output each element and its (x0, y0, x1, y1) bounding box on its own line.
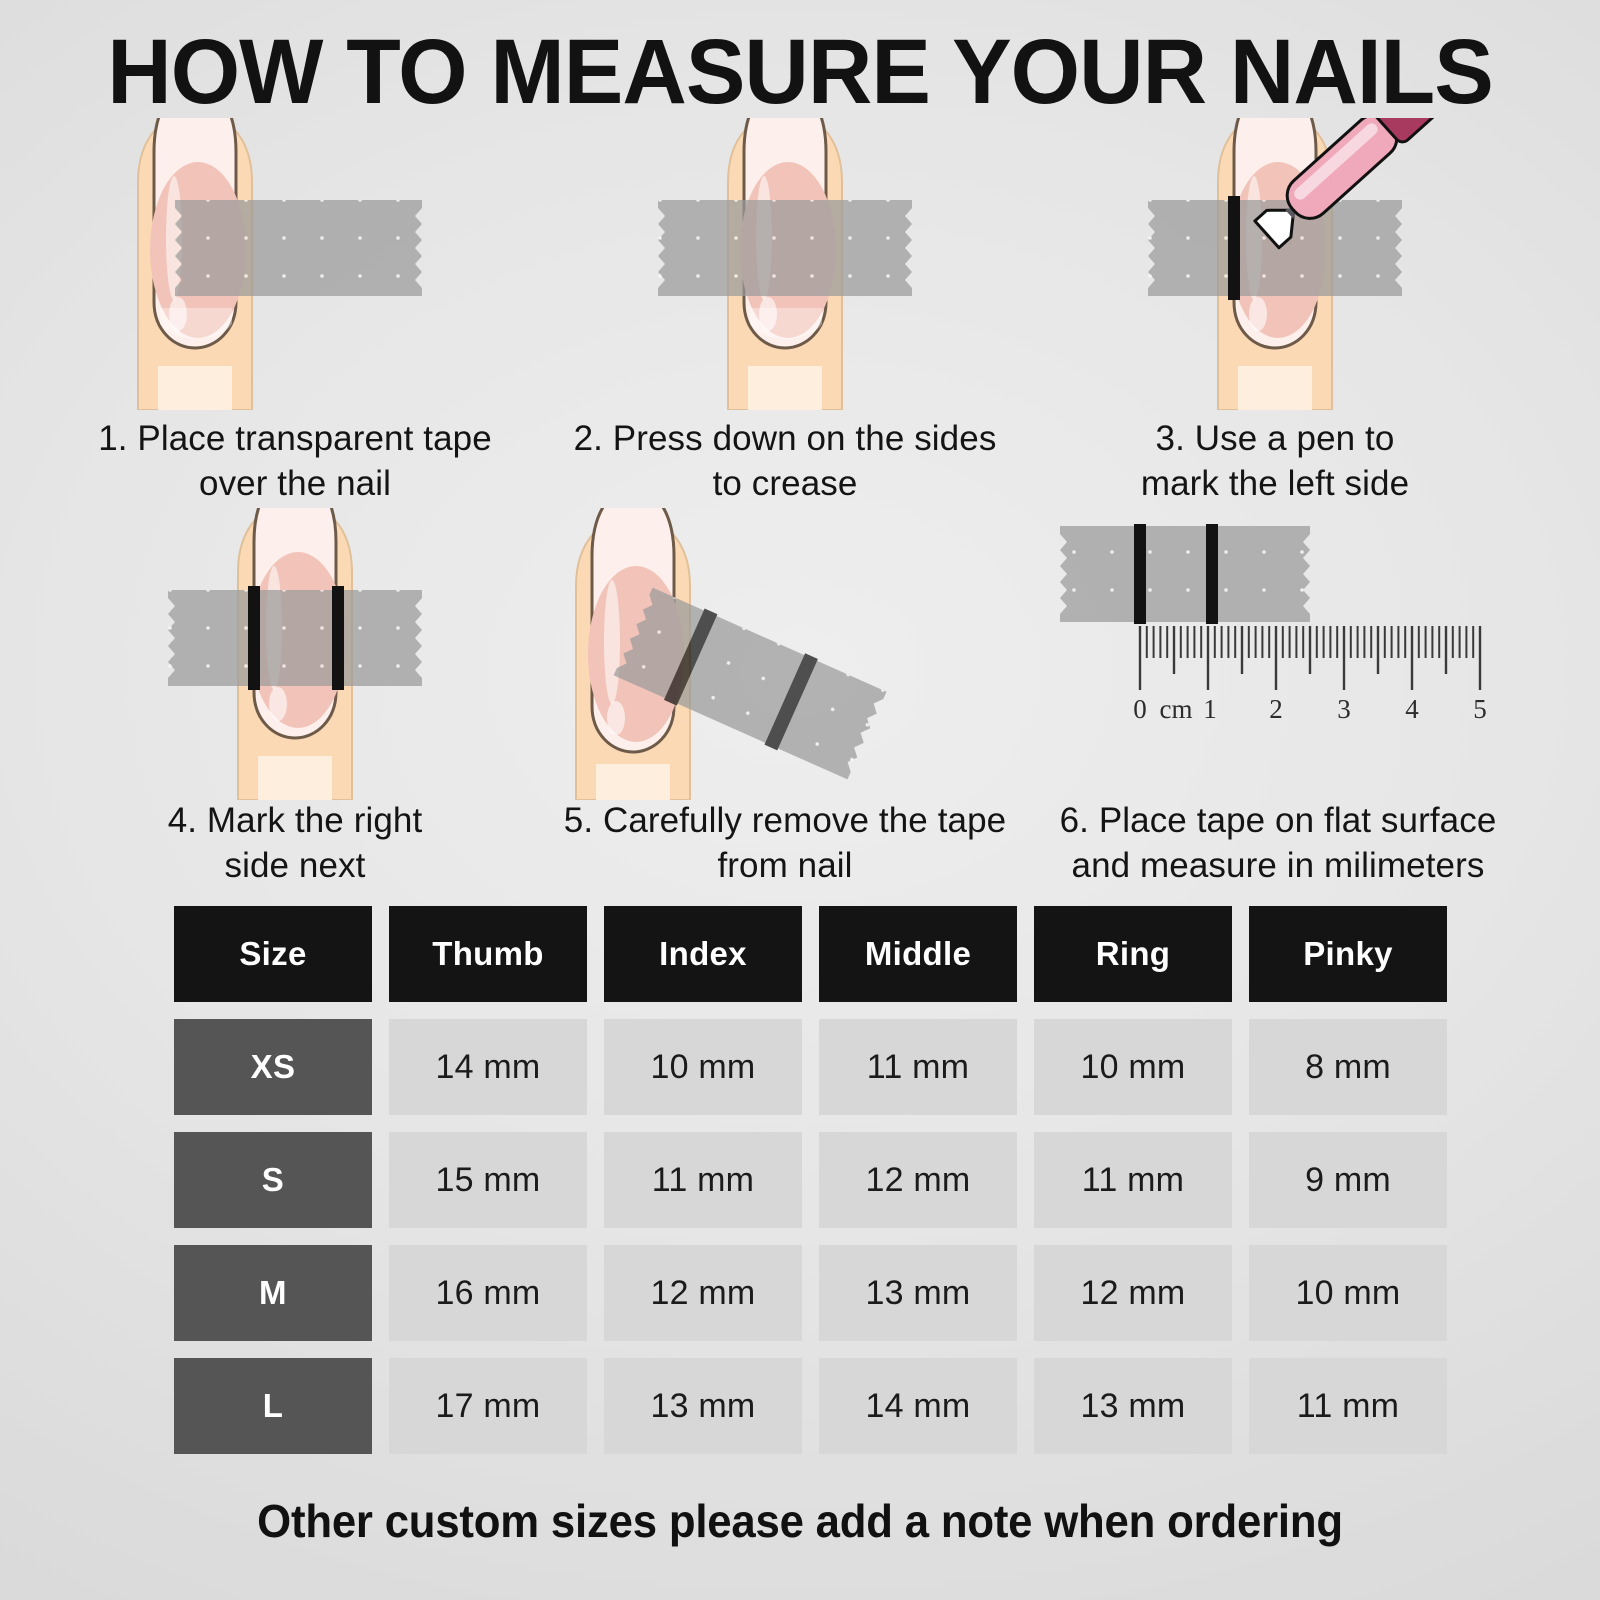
ruler-tick-0: 0 (1133, 694, 1147, 724)
step-3-line1: 3. Use a pen to (1030, 417, 1520, 461)
footer-note: Other custom sizes please add a note whe… (40, 1494, 1560, 1548)
step-2-caption: 2. Press down on the sides to crease (540, 417, 1030, 506)
table-row: S 15 mm 11 mm 12 mm 11 mm 9 mm (174, 1132, 1463, 1228)
ruler-tick-3: 3 (1337, 694, 1351, 724)
cell-m-ring: 12 mm (1034, 1245, 1232, 1341)
step-6-line1: 6. Place tape on flat surface (1008, 799, 1548, 843)
right-mark (332, 586, 344, 690)
table-header-index: Index (604, 906, 802, 1002)
step-3-line2: mark the left side (1030, 462, 1520, 506)
cell-m-pinky: 10 mm (1249, 1245, 1447, 1341)
cell-s-thumb: 15 mm (389, 1132, 587, 1228)
steps-row-1: 1. Place transparent tape over the nail (0, 118, 1600, 508)
table-row: XS 14 mm 10 mm 11 mm 10 mm 8 mm (174, 1019, 1463, 1115)
step-1-line1: 1. Place transparent tape (50, 417, 540, 461)
tape-strip (168, 590, 422, 686)
ruler-unit-label: cm (1160, 694, 1193, 724)
cell-m-thumb: 16 mm (389, 1245, 587, 1341)
step-5-caption: 5. Carefully remove the tape from nail (520, 799, 1050, 888)
ruler-tick-4: 4 (1405, 694, 1419, 724)
step-5-line1: 5. Carefully remove the tape (520, 799, 1050, 843)
cell-l-ring: 13 mm (1034, 1358, 1232, 1454)
step-4: 4. Mark the right side next (50, 508, 540, 890)
tape-strip (658, 200, 912, 296)
size-chart-table: Size Thumb Index Middle Ring Pinky XS 14… (174, 906, 1463, 1454)
size-label-xs: XS (174, 1019, 372, 1115)
step-4-caption: 4. Mark the right side next (50, 799, 540, 888)
steps-section: 1. Place transparent tape over the nail (0, 118, 1600, 890)
step-5-illustration (540, 508, 1030, 800)
step-5-line2: from nail (520, 844, 1050, 888)
cell-xs-ring: 10 mm (1034, 1019, 1232, 1115)
step-6-illustration: 0 cm 1 2 3 4 5 (1030, 508, 1520, 800)
step-2-illustration (540, 118, 1030, 410)
step-6: 0 cm 1 2 3 4 5 6. Place tape on flat sur… (1030, 508, 1520, 890)
table-row: L 17 mm 13 mm 14 mm 13 mm 11 mm (174, 1358, 1463, 1454)
step-4-line1: 4. Mark the right (50, 799, 540, 843)
step-1: 1. Place transparent tape over the nail (50, 118, 540, 508)
left-mark (1228, 196, 1240, 300)
table-header-pinky: Pinky (1249, 906, 1447, 1002)
step-1-illustration (50, 118, 540, 410)
ruler-tick-5: 5 (1473, 694, 1487, 724)
cell-l-middle: 14 mm (819, 1358, 1017, 1454)
step-6-line2: and measure in milimeters (1008, 844, 1548, 888)
step-2: 2. Press down on the sides to crease (540, 118, 1030, 508)
cell-l-pinky: 11 mm (1249, 1358, 1447, 1454)
table-header-thumb: Thumb (389, 906, 587, 1002)
tape-strip (175, 200, 422, 296)
cell-s-pinky: 9 mm (1249, 1132, 1447, 1228)
step-5: 5. Carefully remove the tape from nail (540, 508, 1030, 890)
cell-xs-pinky: 8 mm (1249, 1019, 1447, 1115)
step-3-caption: 3. Use a pen to mark the left side (1030, 417, 1520, 506)
left-mark (248, 586, 260, 690)
cell-xs-thumb: 14 mm (389, 1019, 587, 1115)
cell-m-middle: 13 mm (819, 1245, 1017, 1341)
table-header-middle: Middle (819, 906, 1017, 1002)
ruler (1140, 626, 1480, 690)
left-mark (1134, 524, 1146, 624)
right-mark (1206, 524, 1218, 624)
cell-s-middle: 12 mm (819, 1132, 1017, 1228)
table-header-ring: Ring (1034, 906, 1232, 1002)
ruler-tick-2: 2 (1269, 694, 1283, 724)
step-2-line1: 2. Press down on the sides (540, 417, 1030, 461)
ruler-tick-1: 1 (1203, 694, 1217, 724)
cell-xs-index: 10 mm (604, 1019, 802, 1115)
cell-s-index: 11 mm (604, 1132, 802, 1228)
cell-m-index: 12 mm (604, 1245, 802, 1341)
size-label-s: S (174, 1132, 372, 1228)
step-3: 3. Use a pen to mark the left side (1030, 118, 1520, 508)
steps-row-2: 4. Mark the right side next (0, 508, 1600, 890)
step-3-illustration (1030, 118, 1520, 410)
step-2-line2: to crease (540, 462, 1030, 506)
step-4-illustration (50, 508, 540, 800)
size-label-m: M (174, 1245, 372, 1341)
step-4-line2: side next (50, 844, 540, 888)
page-title: HOW TO MEASURE YOUR NAILS (24, 26, 1576, 118)
step-1-caption: 1. Place transparent tape over the nail (50, 417, 540, 506)
table-header-row: Size Thumb Index Middle Ring Pinky (174, 906, 1463, 1002)
table-row: M 16 mm 12 mm 13 mm 12 mm 10 mm (174, 1245, 1463, 1341)
cell-xs-middle: 11 mm (819, 1019, 1017, 1115)
tape-strip (1060, 526, 1310, 622)
step-6-caption: 6. Place tape on flat surface and measur… (1008, 799, 1548, 888)
cell-s-ring: 11 mm (1034, 1132, 1232, 1228)
step-1-line2: over the nail (50, 462, 540, 506)
size-label-l: L (174, 1358, 372, 1454)
table-header-size: Size (174, 906, 372, 1002)
cell-l-index: 13 mm (604, 1358, 802, 1454)
cell-l-thumb: 17 mm (389, 1358, 587, 1454)
